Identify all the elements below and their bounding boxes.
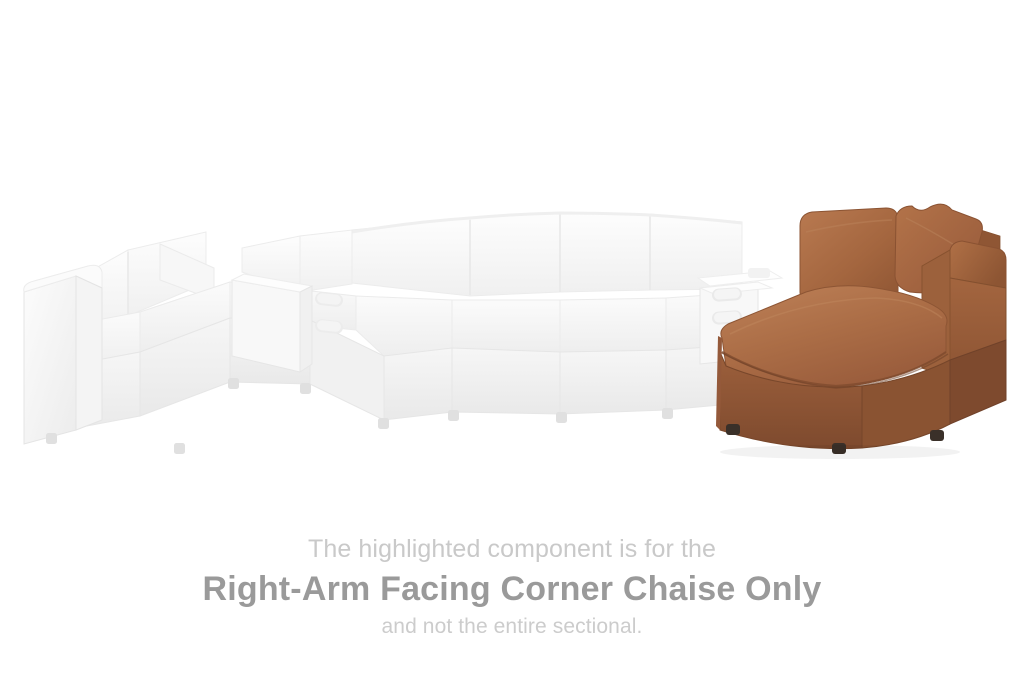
- ghosted-sectional-group: [24, 213, 782, 454]
- sectional-product-illustration: [0, 0, 1024, 500]
- caption-block: The highlighted component is for the Rig…: [0, 532, 1024, 642]
- product-image-canvas: The highlighted component is for the Rig…: [0, 0, 1024, 683]
- highlighted-raf-corner-chaise: [716, 204, 1006, 459]
- caption-tail-line: and not the entire sectional.: [0, 612, 1024, 642]
- ghost-left-arm: [24, 265, 102, 444]
- ghost-back-row: [352, 213, 742, 296]
- caption-lead-line: The highlighted component is for the: [0, 532, 1024, 566]
- sectional-svg: [0, 0, 1024, 500]
- caption-main-line: Right-Arm Facing Corner Chaise Only: [0, 566, 1024, 612]
